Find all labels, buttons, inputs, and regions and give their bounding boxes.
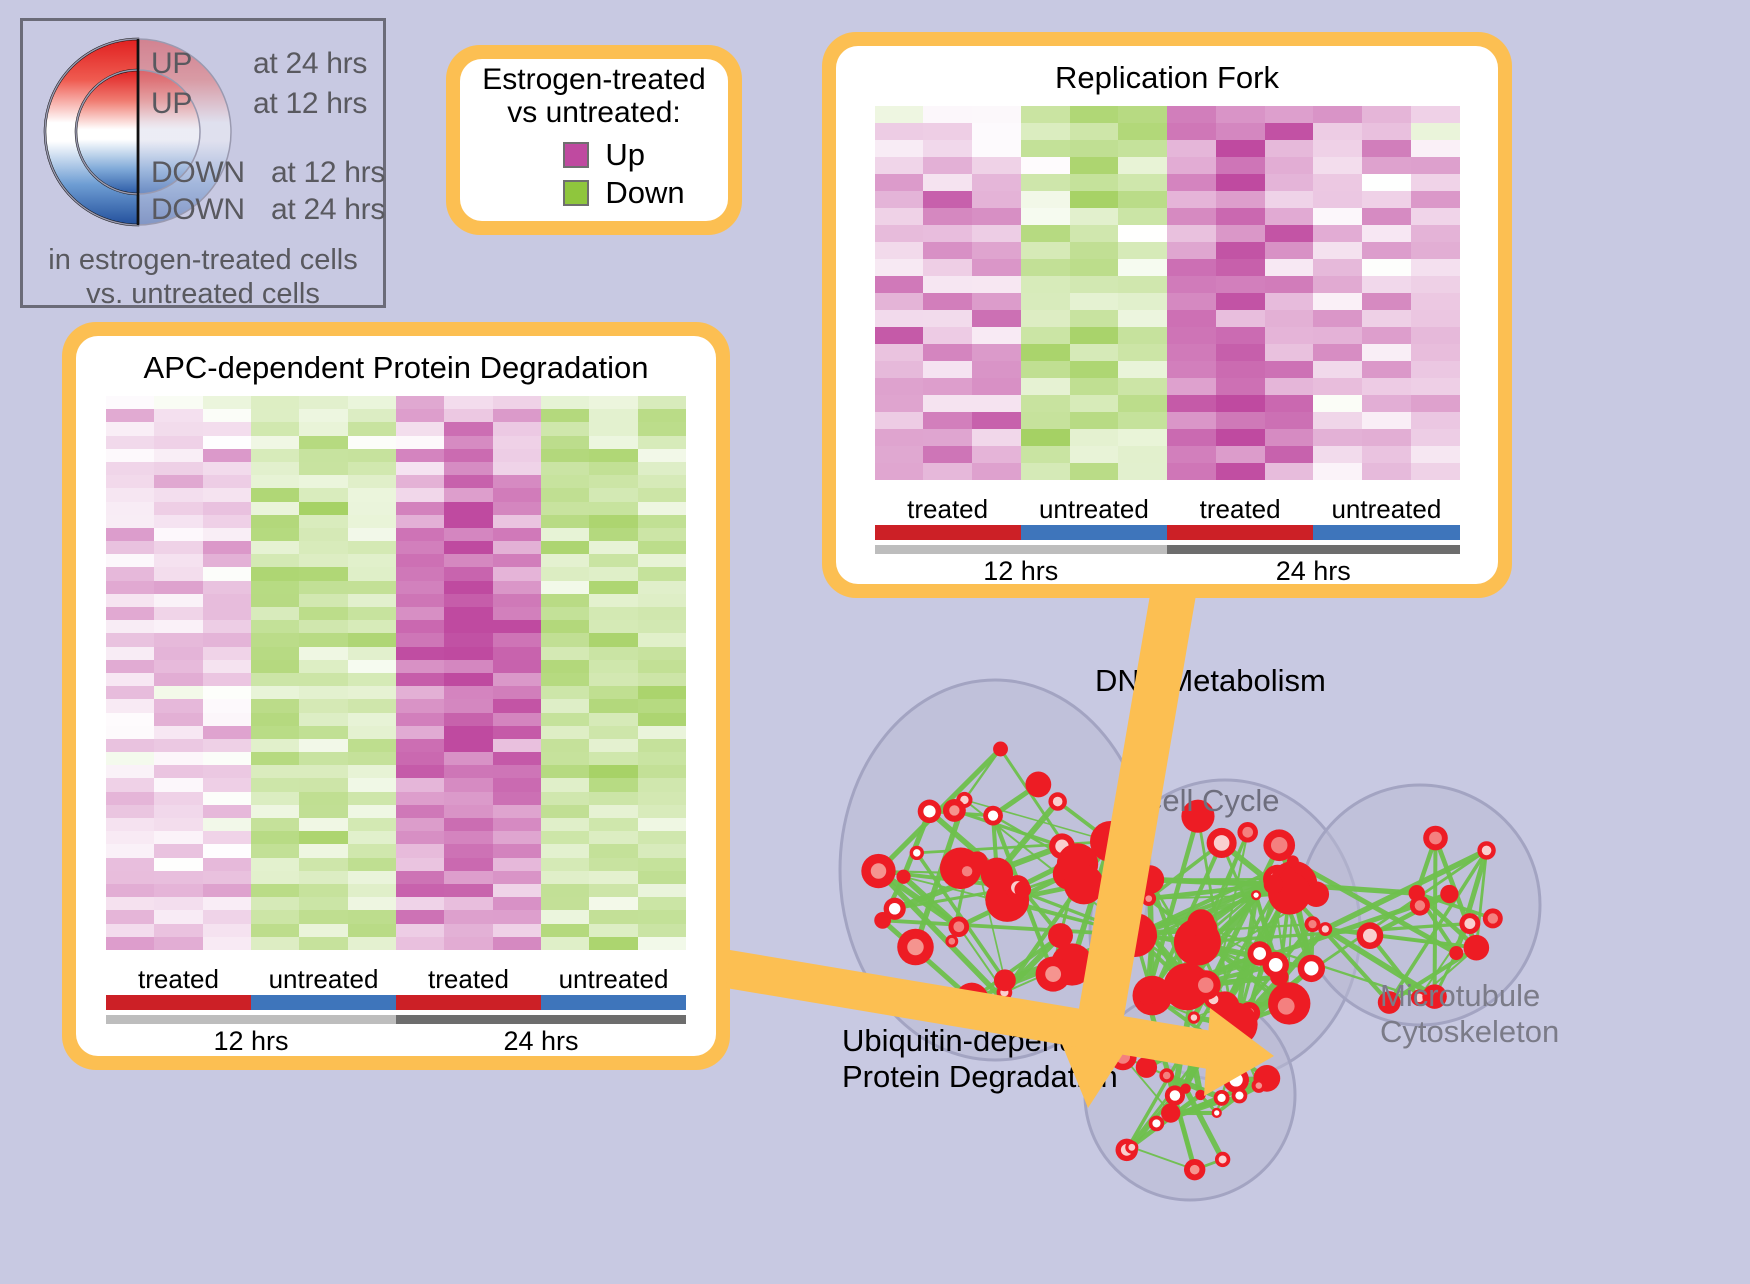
figure-canvas: UP at 24 hrs UP at 12 hrs DOWN at 12 hrs… [0,0,1750,1279]
arrow-apc [726,950,1274,1096]
connector-arrows [0,0,1750,1279]
